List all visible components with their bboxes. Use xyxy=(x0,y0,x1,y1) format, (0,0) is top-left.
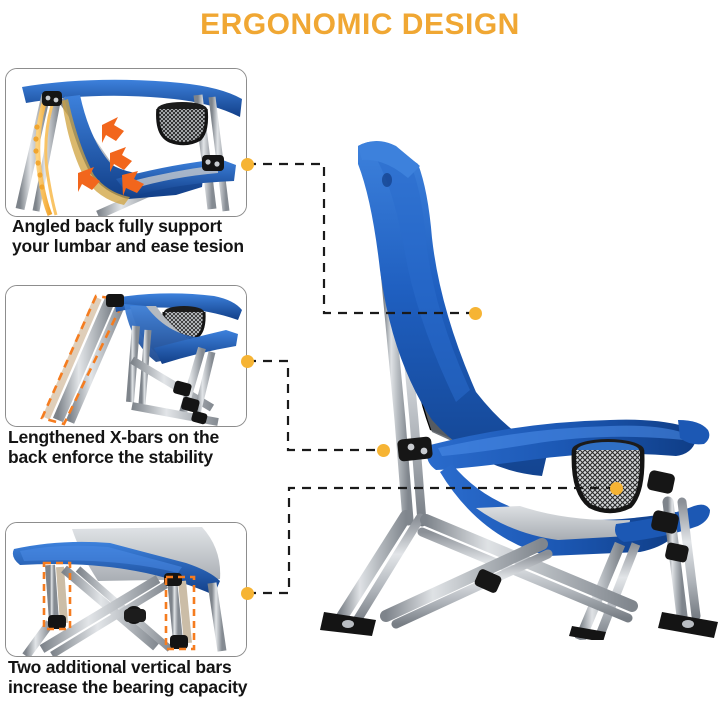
page-title: ERGONOMIC DESIGN xyxy=(0,8,720,42)
caption-lumbar: Angled back fully support your lumbar an… xyxy=(12,216,244,257)
connector-dot-target-1[interactable] xyxy=(469,307,482,320)
main-product-image xyxy=(280,120,720,640)
infographic-canvas: ERGONOMIC DESIGN xyxy=(0,0,720,720)
feature-panel-xbars[interactable] xyxy=(5,285,247,427)
underseat-vertical-bars-closeup xyxy=(6,523,246,656)
mesh-pocket-icon xyxy=(157,102,207,144)
foot-pads xyxy=(320,612,718,640)
connector-dot-source-2[interactable] xyxy=(241,355,254,368)
connector-dot-source-3[interactable] xyxy=(241,587,254,600)
feature-panel-vertical-bars[interactable] xyxy=(5,522,247,657)
caption-vertical-bars: Two additional vertical bars increase th… xyxy=(8,657,247,698)
hinge-lock-upper xyxy=(397,436,433,461)
connector-dot-target-2[interactable] xyxy=(377,444,390,457)
connector-dot-target-3[interactable] xyxy=(610,482,623,495)
rear-xbar-closeup xyxy=(6,286,246,426)
angled-back-lumbar-closeup xyxy=(6,69,246,216)
connector-dot-source-1[interactable] xyxy=(241,158,254,171)
feature-panel-lumbar[interactable] xyxy=(5,68,247,217)
caption-xbars: Lengthened X-bars on the back enforce th… xyxy=(8,427,219,468)
mesh-cup-holder xyxy=(572,439,644,511)
